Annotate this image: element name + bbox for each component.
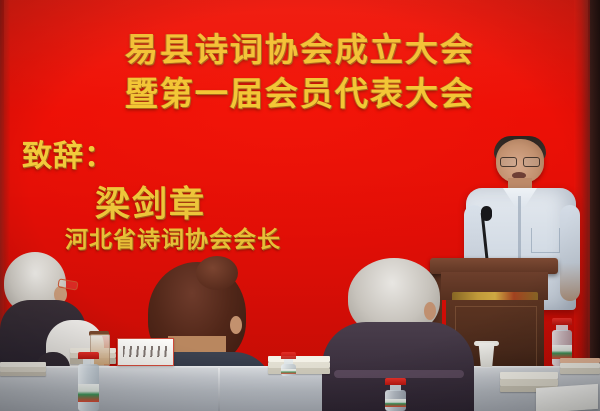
book-stack (560, 358, 600, 374)
banner-title-line-2: 暨第一届会员代表大会 (0, 72, 600, 116)
conference-photo: 易县诗词协会成立大会 暨第一届会员代表大会 致辞： 梁剑章 河北省诗词协会会长 (0, 0, 600, 411)
book-stack (268, 356, 330, 374)
microphone-head-icon (481, 206, 492, 221)
water-bottle (385, 378, 406, 411)
banner-title-line-1: 易县诗词协会成立大会 (0, 28, 600, 72)
table-cloth-fold (218, 368, 220, 411)
speaker-glasses-icon (500, 157, 540, 165)
guest-3-ear (424, 302, 436, 320)
paper-stack (536, 384, 598, 411)
name-card-text (123, 346, 168, 357)
guest-3-collar (334, 370, 464, 378)
speaker-shirt-pocket (531, 228, 560, 253)
water-bottle (281, 352, 296, 376)
speaker-right-arm (560, 205, 580, 301)
banner-speaker-title: 河北省诗词协会会长 (65, 220, 281, 254)
banner-title: 易县诗词协会成立大会 暨第一届会员代表大会 (0, 28, 600, 116)
name-card (117, 338, 174, 366)
guest-2-hair-bun (196, 256, 238, 290)
water-bottle (78, 352, 99, 411)
banner-speech-label: 致辞： (22, 131, 115, 175)
guest-2-ear (230, 316, 242, 334)
book-stack (0, 362, 46, 376)
